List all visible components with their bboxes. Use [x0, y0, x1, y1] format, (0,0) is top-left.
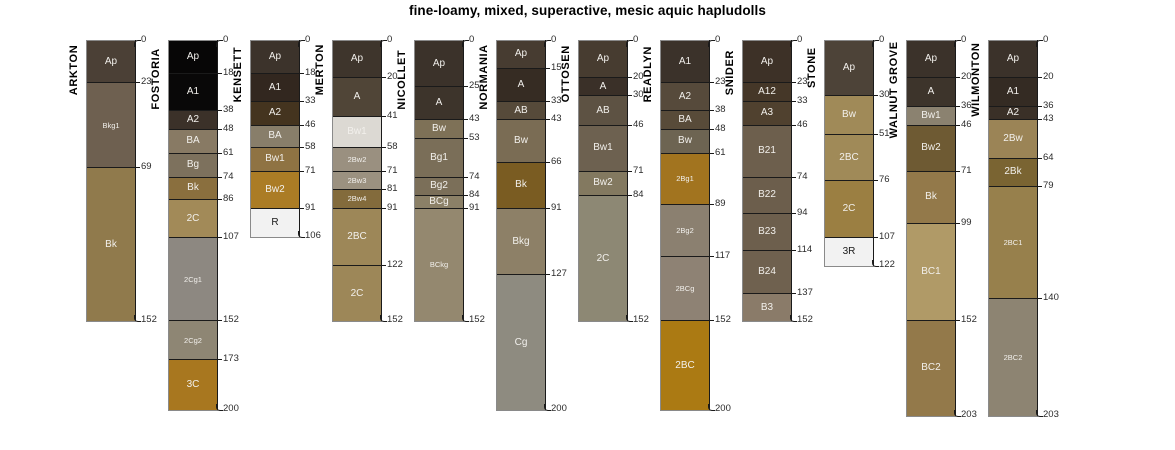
depth-tick [381, 208, 386, 209]
horizon-label: Bw [514, 136, 528, 146]
horizon-label: 2Cg1 [184, 276, 202, 284]
depth-tick [954, 410, 961, 417]
soil-horizon[interactable]: Ap [169, 41, 217, 74]
depth-tick [381, 171, 386, 172]
profile-name-label: NICOLLET [396, 50, 408, 110]
profile-column: ApAABBw1Bw22C [578, 40, 628, 322]
depth-tick [709, 204, 714, 205]
soil-horizon[interactable]: Bw [497, 120, 545, 162]
horizon-label: Bw2 [921, 143, 940, 153]
soil-horizon[interactable]: A12 [743, 83, 791, 101]
depth-tick-label: 0 [961, 35, 966, 45]
soil-horizon[interactable]: BA [251, 126, 299, 148]
horizon-label: B24 [758, 267, 776, 277]
horizon-label: A2 [1007, 108, 1019, 118]
depth-tick [217, 110, 222, 111]
horizon-label: 2Cg2 [184, 337, 202, 345]
horizon-label: 2C [843, 204, 856, 214]
soil-horizon[interactable]: A1 [251, 74, 299, 102]
depth-tick [299, 73, 304, 74]
soil-horizon[interactable]: 2C [333, 266, 381, 321]
soil-horizon[interactable]: BA [661, 111, 709, 129]
horizon-label: Bg [187, 160, 199, 170]
soil-horizon[interactable]: 2Cg1 [169, 238, 217, 321]
depth-tick [955, 77, 960, 78]
depth-tick [791, 213, 796, 214]
soil-horizon[interactable]: Bw [415, 120, 463, 138]
depth-axis [463, 40, 464, 320]
horizon-label: A [600, 82, 607, 92]
depth-tick-label: 74 [223, 172, 234, 182]
depth-axis [217, 40, 218, 409]
soil-horizon[interactable]: 2Bw2 [333, 148, 381, 172]
depth-tick-label: 36 [1043, 101, 1054, 111]
depth-tick-label: 152 [797, 315, 813, 325]
depth-axis [381, 40, 382, 320]
depth-tick-label: 33 [797, 96, 808, 106]
depth-tick-label: 41 [387, 111, 398, 121]
soil-horizon[interactable]: Ap [251, 41, 299, 74]
soil-horizon[interactable]: B24 [743, 251, 791, 293]
soil-horizon[interactable]: 2BC2 [989, 299, 1037, 415]
depth-tick [463, 138, 468, 139]
depth-tick [873, 237, 878, 238]
horizon-label: R [271, 218, 278, 228]
depth-tick [955, 320, 960, 321]
horizon-label: A [354, 92, 361, 102]
soil-horizon[interactable]: A [333, 78, 381, 117]
depth-tick-label: 58 [387, 142, 398, 152]
horizon-label: A1 [269, 83, 281, 93]
soil-horizon[interactable]: Bkg1 [87, 83, 135, 168]
depth-tick-label: 106 [305, 231, 321, 241]
depth-tick [381, 77, 386, 78]
horizon-label: BA [268, 131, 281, 141]
depth-tick-label: 69 [141, 162, 152, 172]
horizon-label: A [436, 98, 443, 108]
soil-horizon[interactable]: Bg [169, 154, 217, 178]
depth-tick [298, 231, 305, 238]
profile-name-label: OTTOSEN [560, 45, 572, 102]
soil-horizon[interactable]: Bw2 [251, 172, 299, 209]
horizon-label: A2 [187, 115, 199, 125]
depth-tick [708, 40, 715, 47]
horizon-label: BCkg [430, 261, 448, 269]
depth-tick [627, 195, 632, 196]
soil-horizon[interactable]: 2Bg1 [661, 154, 709, 206]
soil-horizon[interactable]: 2BC [661, 321, 709, 410]
depth-tick [299, 208, 304, 209]
depth-tick [1037, 298, 1042, 299]
depth-tick-label: 107 [879, 232, 895, 242]
horizon-label: Bkg1 [102, 122, 119, 130]
soil-horizon[interactable]: Ap [907, 41, 955, 78]
horizon-label: 2Bg2 [676, 227, 694, 235]
soil-horizon[interactable]: AB [497, 102, 545, 120]
soil-horizon[interactable]: A1 [989, 78, 1037, 108]
depth-tick [216, 40, 223, 47]
depth-tick [134, 40, 141, 47]
horizon-label: Bw1 [921, 111, 940, 121]
horizon-label: 2BC [347, 232, 366, 242]
horizon-label: 3C [187, 380, 200, 390]
depth-tick-label: 203 [1043, 410, 1059, 420]
depth-tick-label: 38 [223, 105, 234, 115]
depth-tick-label: 61 [715, 148, 726, 158]
depth-tick [872, 40, 879, 47]
depth-tick-label: 89 [715, 199, 726, 209]
soil-horizon[interactable]: Bw [825, 96, 873, 135]
depth-tick-label: 86 [223, 194, 234, 204]
horizon-label: BCg [429, 197, 448, 207]
depth-tick-label: 107 [223, 232, 239, 242]
depth-tick [709, 82, 714, 83]
depth-tick-label: 0 [879, 35, 884, 45]
horizon-label: Ap [597, 54, 609, 64]
soil-horizon[interactable]: Ap [579, 41, 627, 78]
depth-tick-label: 84 [469, 190, 480, 200]
soil-horizon[interactable]: Bk [169, 178, 217, 200]
depth-tick-label: 200 [715, 404, 731, 414]
depth-tick [216, 404, 223, 411]
depth-tick [873, 95, 878, 96]
depth-tick-label: 152 [141, 315, 157, 325]
depth-axis [627, 40, 628, 320]
horizon-label: B23 [758, 227, 776, 237]
horizon-label: 3R [843, 247, 856, 257]
depth-tick [1036, 40, 1043, 47]
depth-tick-label: 79 [1043, 181, 1054, 191]
depth-tick-label: 58 [305, 142, 316, 152]
horizon-label: Bw2 [265, 185, 284, 195]
profile-name-label: STONE [806, 47, 818, 88]
soil-horizon[interactable]: Bk [497, 163, 545, 209]
depth-tick [217, 199, 222, 200]
horizon-label: Bg2 [430, 181, 448, 191]
soil-horizon[interactable]: Cg [497, 275, 545, 410]
depth-tick-label: 91 [469, 203, 480, 213]
profile-name-label: SNIDER [724, 50, 736, 95]
soil-horizon[interactable]: Ap [743, 41, 791, 83]
horizon-label: Bkg [512, 237, 529, 247]
profile-name-label: ARKTON [68, 45, 80, 95]
depth-tick [217, 73, 222, 74]
depth-tick [545, 162, 550, 163]
depth-tick [791, 125, 796, 126]
horizon-label: 2C [597, 254, 610, 264]
depth-tick [217, 237, 222, 238]
soil-horizon[interactable]: 2BC1 [989, 187, 1037, 300]
soil-horizon[interactable]: 2Cg2 [169, 321, 217, 360]
depth-tick-label: 0 [633, 35, 638, 45]
horizon-label: Bw2 [593, 178, 612, 188]
depth-tick [299, 147, 304, 148]
depth-tick [380, 40, 387, 47]
soil-horizon[interactable]: BCkg [415, 209, 463, 322]
soil-horizon[interactable]: Bw2 [579, 172, 627, 196]
depth-tick [790, 315, 797, 322]
soil-horizon[interactable]: A2 [989, 107, 1037, 120]
soil-horizon[interactable]: Bw [661, 130, 709, 154]
horizon-label: Ap [105, 57, 117, 67]
depth-tick-label: 48 [223, 124, 234, 134]
soil-horizon[interactable]: 2Bw3 [333, 172, 381, 190]
depth-tick [545, 119, 550, 120]
soil-horizon[interactable]: R [251, 209, 299, 237]
depth-tick-label: 66 [551, 157, 562, 167]
horizon-label: BC1 [921, 267, 940, 277]
horizon-label: 2BC1 [1004, 239, 1023, 247]
depth-tick-label: 0 [141, 35, 146, 45]
soil-horizon[interactable]: A3 [743, 102, 791, 126]
soil-horizon[interactable]: BA [169, 130, 217, 154]
depth-tick-label: 33 [305, 96, 316, 106]
soil-horizon[interactable]: B22 [743, 178, 791, 215]
depth-tick-label: 114 [797, 245, 812, 255]
horizon-label: Ap [433, 59, 445, 69]
soil-horizon[interactable]: Bkg [497, 209, 545, 275]
soil-horizon[interactable]: Bw1 [251, 148, 299, 172]
horizon-label: Bw [678, 136, 692, 146]
soil-horizon[interactable]: Ap [989, 41, 1037, 78]
soil-horizon[interactable]: A2 [169, 111, 217, 129]
horizon-label: Ap [515, 49, 527, 59]
depth-tick-label: 99 [961, 218, 972, 228]
depth-tick-label: 71 [305, 166, 316, 176]
depth-tick [791, 82, 796, 83]
depth-axis [873, 40, 874, 265]
soil-horizon[interactable]: 2Bw [989, 120, 1037, 159]
soil-horizon[interactable]: A [415, 87, 463, 120]
depth-axis [1037, 40, 1038, 415]
soil-horizon[interactable]: Ap [333, 41, 381, 78]
horizon-label: A [518, 80, 525, 90]
depth-tick [217, 153, 222, 154]
horizon-label: B3 [761, 303, 773, 313]
horizon-label: A1 [679, 57, 691, 67]
horizon-label: 2Bw4 [348, 195, 367, 203]
depth-tick [463, 119, 468, 120]
depth-tick-label: 152 [387, 315, 403, 325]
depth-tick-label: 200 [551, 404, 567, 414]
depth-tick-label: 84 [633, 190, 644, 200]
profile-column: ApAABBwBkBkgCg [496, 40, 546, 411]
depth-tick [135, 167, 140, 168]
depth-tick-label: 122 [387, 260, 403, 270]
horizon-label: Ap [187, 52, 199, 62]
soil-horizon[interactable]: B3 [743, 294, 791, 322]
soil-horizon[interactable]: A2 [661, 83, 709, 111]
horizon-label: Bw1 [265, 154, 284, 164]
depth-tick [299, 125, 304, 126]
depth-tick [463, 195, 468, 196]
soil-horizon[interactable]: A [497, 69, 545, 102]
horizon-label: Bk [515, 180, 527, 190]
horizon-label: A2 [679, 92, 691, 102]
depth-tick-label: 0 [1043, 35, 1048, 45]
soil-horizon[interactable]: Bg2 [415, 178, 463, 196]
depth-tick [955, 171, 960, 172]
depth-tick [462, 40, 469, 47]
depth-tick-label: 0 [715, 35, 720, 45]
depth-tick [791, 293, 796, 294]
soil-horizon[interactable]: Bw1 [333, 117, 381, 148]
soil-horizon[interactable]: B23 [743, 214, 791, 251]
depth-tick [955, 106, 960, 107]
depth-axis [955, 40, 956, 415]
horizon-label: 2Bg1 [676, 175, 694, 183]
horizon-label: Ap [761, 57, 773, 67]
depth-tick [627, 95, 632, 96]
horizon-label: Ap [1007, 54, 1019, 64]
soil-horizon[interactable]: Ap [825, 41, 873, 96]
soil-horizon[interactable]: 2C [579, 196, 627, 321]
depth-tick [380, 315, 387, 322]
depth-tick [709, 110, 714, 111]
depth-tick [626, 40, 633, 47]
depth-tick [709, 320, 714, 321]
depth-tick-label: 0 [305, 35, 310, 45]
soil-horizon[interactable]: Bw2 [907, 126, 955, 172]
horizon-label: Bw [432, 124, 446, 134]
depth-tick [381, 189, 386, 190]
soil-horizon[interactable]: Ap [497, 41, 545, 69]
depth-tick [955, 125, 960, 126]
profile-name-label: WILMONTON [970, 43, 982, 117]
profile-column: ApA12A3B21B22B23B24B3 [742, 40, 792, 322]
page-title: fine-loamy, mixed, superactive, mesic aq… [0, 3, 1175, 18]
soil-horizon[interactable]: 2Bk [989, 159, 1037, 187]
soil-horizon[interactable]: 2C [169, 200, 217, 239]
horizon-label: AB [514, 106, 527, 116]
profile-column: ApA1A2BABgBk2C2Cg12Cg23C [168, 40, 218, 411]
depth-tick-label: 46 [305, 120, 316, 130]
horizon-label: Ap [843, 63, 855, 73]
depth-tick [217, 177, 222, 178]
depth-tick-label: 173 [223, 354, 239, 364]
horizon-label: AB [596, 106, 609, 116]
profile-name-label: NORMANIA [478, 44, 490, 109]
soil-horizon[interactable]: A [907, 78, 955, 108]
soil-horizon[interactable]: 2C [825, 181, 873, 238]
depth-tick [545, 208, 550, 209]
depth-tick-label: 48 [715, 124, 726, 134]
depth-tick [627, 125, 632, 126]
depth-tick-label: 0 [469, 35, 474, 45]
horizon-label: BA [186, 136, 199, 146]
horizon-label: BA [678, 115, 691, 125]
soil-horizon[interactable]: 2BC [333, 209, 381, 266]
soil-horizon[interactable]: 3R [825, 238, 873, 266]
soil-horizon[interactable]: Bw1 [579, 126, 627, 172]
horizon-label: A3 [761, 108, 773, 118]
horizon-label: 2Bw3 [348, 177, 367, 185]
depth-tick [626, 315, 633, 322]
depth-tick-label: 117 [715, 251, 730, 261]
depth-tick [954, 40, 961, 47]
horizon-label: A1 [187, 87, 199, 97]
profile-column: A1A2BABw2Bg12Bg22BCg2BC [660, 40, 710, 411]
soil-horizon[interactable]: 2BC [825, 135, 873, 181]
depth-tick-label: 200 [223, 404, 239, 414]
depth-tick [1036, 410, 1043, 417]
depth-tick [873, 180, 878, 181]
depth-tick [545, 68, 550, 69]
soil-horizon[interactable]: 2BCg [661, 257, 709, 322]
horizon-label: 2C [187, 214, 200, 224]
soil-horizon[interactable]: Ap [87, 41, 135, 83]
soil-horizon[interactable]: A1 [169, 74, 217, 111]
soil-horizon[interactable]: 3C [169, 360, 217, 410]
soil-horizon[interactable]: A [579, 78, 627, 96]
depth-tick-label: 74 [469, 172, 480, 182]
horizon-label: Bw [842, 110, 856, 120]
depth-tick [217, 359, 222, 360]
soil-horizon[interactable]: Bk [907, 172, 955, 224]
depth-tick-label: 46 [797, 120, 808, 130]
soil-horizon[interactable]: A1 [661, 41, 709, 83]
soil-horizon[interactable]: Bk [87, 168, 135, 321]
depth-tick-label: 91 [551, 203, 562, 213]
depth-tick [708, 404, 715, 411]
horizon-label: A [928, 87, 935, 97]
depth-tick [545, 101, 550, 102]
soil-horizon[interactable]: 2Bg2 [661, 205, 709, 257]
soil-horizon[interactable]: AB [579, 96, 627, 126]
soil-horizon[interactable]: BCg [415, 196, 463, 209]
soil-horizon[interactable]: 2Bw4 [333, 190, 381, 208]
depth-tick [872, 260, 879, 267]
profile-column: ApA1A22Bw2Bk2BC12BC2 [988, 40, 1038, 417]
depth-tick-label: 91 [305, 203, 316, 213]
depth-tick [709, 256, 714, 257]
soil-horizon[interactable]: A2 [251, 102, 299, 126]
profile-name-label: MERTON [314, 44, 326, 95]
depth-tick-label: 137 [797, 288, 813, 298]
soil-horizon[interactable]: BC2 [907, 321, 955, 415]
soil-horizon[interactable]: Bg1 [415, 139, 463, 178]
horizon-label: A2 [269, 108, 281, 118]
soil-horizon[interactable]: B21 [743, 126, 791, 178]
depth-tick [790, 40, 797, 47]
depth-tick-label: 0 [797, 35, 802, 45]
depth-tick [544, 40, 551, 47]
profile-column: ApBkg1Bk [86, 40, 136, 322]
soil-horizon[interactable]: Ap [415, 41, 463, 87]
depth-tick [791, 177, 796, 178]
depth-tick-label: 81 [387, 184, 398, 194]
horizon-label: 2Bk [1004, 167, 1021, 177]
depth-tick-label: 94 [797, 208, 808, 218]
profile-column: ApABw1Bw2BkBC1BC2 [906, 40, 956, 417]
soil-horizon[interactable]: BC1 [907, 224, 955, 322]
depth-tick-label: 0 [387, 35, 392, 45]
profile-column: ApBw2BC2C3R [824, 40, 874, 267]
horizon-label: Bk [105, 240, 117, 250]
depth-tick [299, 101, 304, 102]
depth-tick [299, 171, 304, 172]
depth-tick-label: 46 [961, 120, 972, 130]
depth-tick [463, 177, 468, 178]
horizon-label: A1 [1007, 87, 1019, 97]
depth-tick-label: 74 [797, 172, 808, 182]
depth-tick-label: 71 [633, 166, 644, 176]
depth-tick-label: 122 [879, 260, 895, 270]
horizon-label: 2Bw2 [348, 156, 367, 164]
horizon-label: A12 [758, 87, 776, 97]
depth-tick [463, 86, 468, 87]
soil-horizon[interactable]: Bw1 [907, 107, 955, 125]
